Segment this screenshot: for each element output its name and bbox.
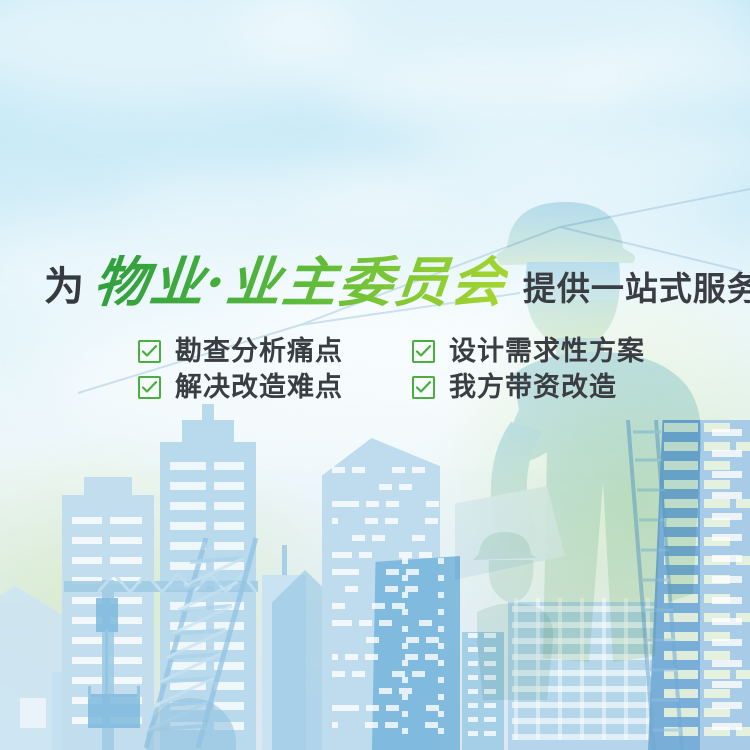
building-window: [438, 694, 444, 700]
headline-prefix: 为: [44, 267, 84, 309]
building-window: [332, 569, 359, 575]
crane-cable: [105, 630, 108, 694]
building-window: [425, 722, 438, 728]
building-left-a-top: [84, 477, 132, 495]
building-window: [372, 535, 385, 541]
building-window: [438, 728, 444, 734]
checkbox-checked-icon[interactable]: [138, 376, 161, 399]
feature-row: 勘查分析痛点 设计需求性方案: [138, 338, 698, 365]
feature-row: 解决改造难点 我方带资改造: [138, 374, 698, 401]
building-window: [402, 677, 408, 683]
building-window: [402, 728, 408, 734]
headline: 为 物业·业主委员会 提供一站式服务: [44, 247, 750, 309]
building-window: [345, 654, 358, 660]
building-window: [438, 643, 444, 649]
building-window: [438, 711, 444, 717]
building-window: [170, 502, 206, 510]
building-window: [170, 482, 206, 490]
building-window: [385, 518, 398, 524]
building-window: [352, 535, 365, 541]
building-window: [386, 569, 399, 575]
feature-label: 解决改造难点: [175, 374, 343, 401]
building-window: [438, 677, 444, 683]
building-window: [419, 620, 432, 626]
headline-suffix: 提供一站式服务: [523, 272, 750, 309]
distant-worker-silhouette: [455, 520, 575, 700]
building-window: [214, 502, 244, 510]
building-window: [379, 688, 392, 694]
crane-counterjib: [64, 581, 102, 592]
building-window: [402, 592, 408, 598]
building-window: [438, 558, 444, 564]
crane-cab: [96, 598, 118, 632]
feature-list: 勘查分析痛点 设计需求性方案 解决改造难点: [138, 338, 698, 410]
feature-label: 我方带资改造: [449, 374, 617, 401]
building-window: [426, 501, 439, 507]
checkbox-checked-icon[interactable]: [138, 340, 161, 363]
building-window: [402, 575, 408, 581]
building-window: [332, 705, 359, 711]
building-window: [332, 620, 352, 626]
building-window: [214, 482, 244, 490]
building-window: [352, 671, 365, 677]
building-window: [402, 711, 408, 717]
building-window: [438, 626, 444, 632]
building-window: [332, 671, 345, 677]
building-window: [402, 660, 408, 666]
feature-item[interactable]: 我方带资改造: [412, 374, 617, 401]
building-window: [332, 654, 338, 660]
building-window: [402, 558, 408, 564]
building-window: [438, 609, 444, 615]
building-window: [386, 501, 399, 507]
building-window: [332, 722, 338, 728]
building-window: [332, 518, 338, 524]
building-window: [438, 660, 444, 666]
building-window: [379, 620, 392, 626]
checkbox-checked-icon[interactable]: [412, 340, 435, 363]
building-window: [419, 552, 432, 558]
building-window: [359, 552, 372, 558]
building-window: [366, 705, 379, 711]
building-window: [402, 609, 408, 615]
building-window: [365, 654, 378, 660]
building-window: [386, 705, 399, 711]
building-window: [438, 592, 444, 598]
building-window: [425, 654, 438, 660]
building-window: [359, 620, 372, 626]
building-window: [402, 626, 408, 632]
building-window: [72, 537, 102, 544]
building-window: [366, 501, 379, 507]
promo-banner: 为 物业·业主委员会 提供一站式服务 勘查分析痛点 设计需求性方案: [0, 0, 750, 750]
building-window: [399, 484, 412, 490]
crane-hook-line-l: [88, 686, 91, 698]
building-window: [425, 518, 438, 524]
feature-item[interactable]: 解决改造难点: [138, 374, 412, 401]
building-window: [332, 603, 345, 609]
building-window: [412, 535, 425, 541]
building-window: [372, 603, 385, 609]
building-window: [365, 722, 378, 728]
headline-highlight: 物业·业主委员会: [91, 255, 509, 309]
building-window: [365, 518, 378, 524]
building-window: [379, 484, 392, 490]
building-window: [412, 671, 425, 677]
building-window: [385, 722, 398, 728]
feature-label: 设计需求性方案: [449, 338, 645, 365]
building-window: [402, 643, 408, 649]
building-window: [402, 694, 408, 700]
checkbox-checked-icon[interactable]: [412, 376, 435, 399]
building-window: [72, 517, 102, 524]
feature-item[interactable]: 勘查分析痛点: [138, 338, 412, 365]
building-window: [332, 552, 352, 558]
building-window: [366, 637, 379, 643]
building-window: [332, 501, 359, 507]
feature-label: 勘查分析痛点: [175, 338, 343, 365]
building-window: [345, 586, 358, 592]
building-window: [385, 586, 398, 592]
feature-item[interactable]: 设计需求性方案: [412, 338, 645, 365]
building-window: [438, 575, 444, 581]
